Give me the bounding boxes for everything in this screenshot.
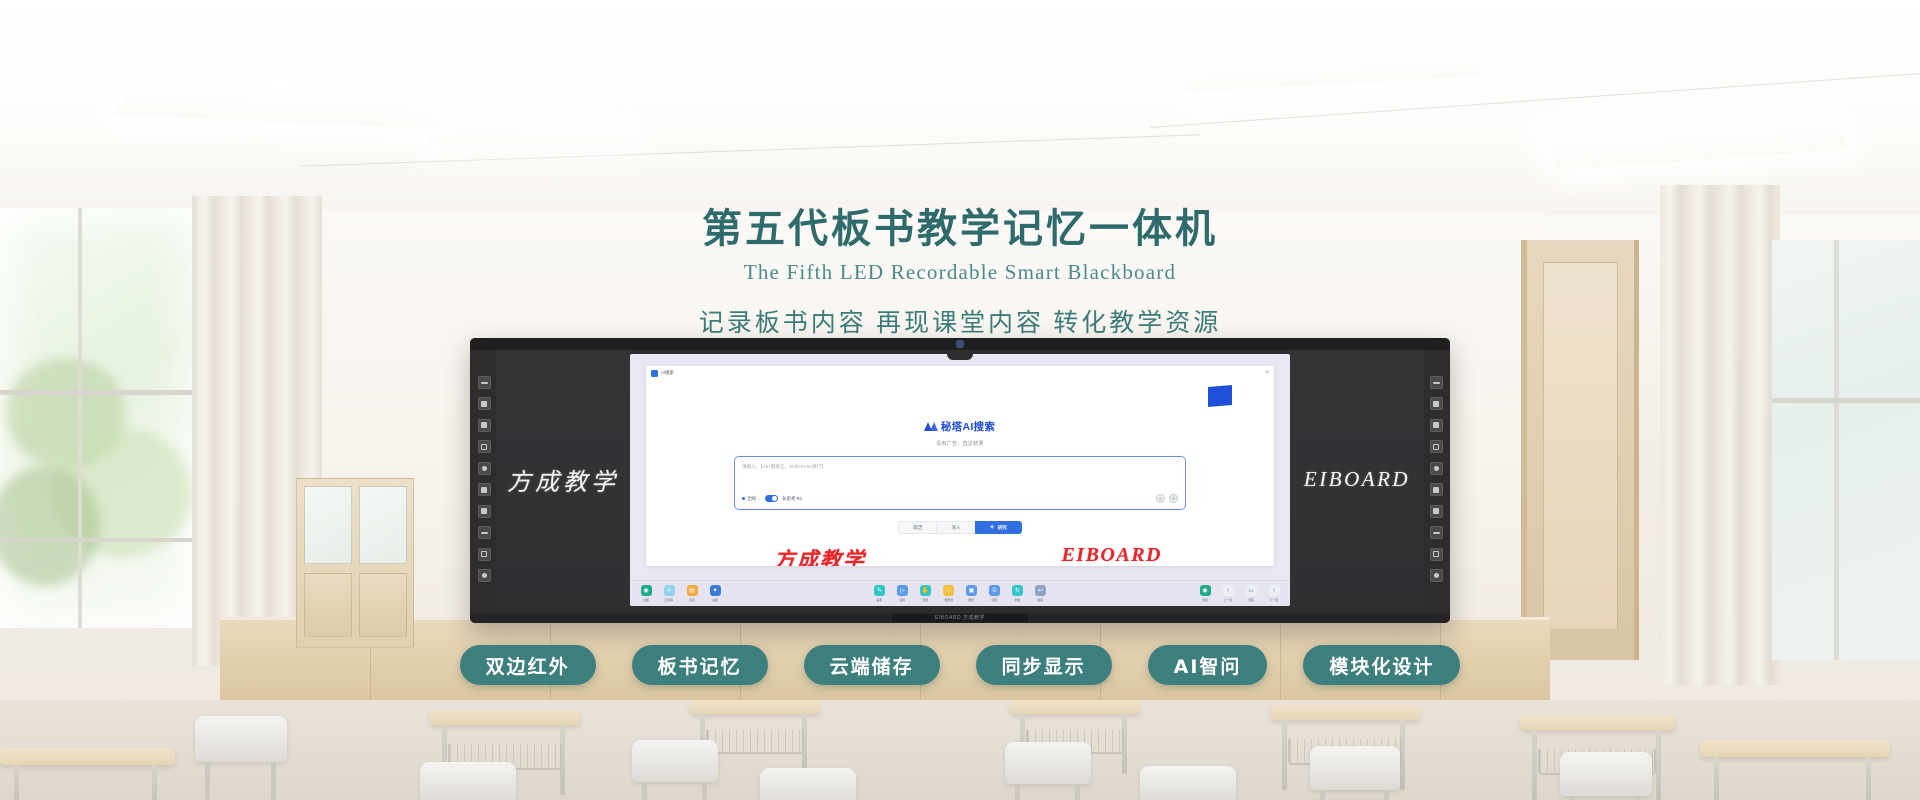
red-ink-english: EIBOARD: [1061, 544, 1162, 566]
tool-pen[interactable]: ✎ 画笔: [872, 585, 888, 602]
scope-selector[interactable]: 全网 ⌄: [742, 496, 761, 502]
volume-icon[interactable]: [478, 483, 491, 496]
page-next-button[interactable]: › 下一页: [1266, 585, 1282, 602]
blackboard-top-bar: [470, 338, 1450, 350]
app-favicon-icon: [651, 370, 658, 377]
mode-button-research[interactable]: ✧ 研究: [975, 521, 1022, 534]
feature-pill-modular-design[interactable]: 模块化设计: [1303, 645, 1460, 685]
metaso-branding: 秘塔AI搜索 没有广告，直达结果: [646, 418, 1274, 447]
tool-shape[interactable]: ▣ 图形: [964, 585, 980, 602]
chevron-right-icon: ›: [1269, 585, 1280, 596]
tool-label: 漫游: [923, 597, 929, 602]
camera-notch-icon: [947, 354, 973, 360]
tool-label: 撤销: [1038, 597, 1044, 602]
feature-pill-ai-ask[interactable]: AI智问: [1148, 645, 1268, 685]
feature-pill-dual-infrared[interactable]: 双边红外: [460, 645, 596, 685]
pause-icon[interactable]: [1430, 526, 1443, 539]
blue-square-annotation: [1208, 385, 1232, 407]
chalk-text-left: 方成教学: [507, 462, 619, 497]
power-icon[interactable]: [1430, 462, 1443, 475]
redo-icon: ↻: [1012, 585, 1023, 596]
deep-think-label: 长思考 R1: [782, 496, 802, 502]
taskbar-item-desktop[interactable]: ✦ 桌面: [707, 585, 723, 602]
taskbar-right-group[interactable]: ◉ 新建 ‹ 上一页 1/1 页码 › 下一页: [1197, 585, 1282, 602]
chevron-down-icon: ⌄: [758, 496, 761, 501]
feature-pill-board-memory[interactable]: 板书记忆: [632, 645, 768, 685]
deep-think-toggle[interactable]: [765, 495, 778, 502]
cabinet-glass-door: [359, 486, 407, 564]
mode-button-deep[interactable]: 深入: [936, 521, 974, 534]
camera-icon[interactable]: ◎: [1156, 494, 1165, 503]
metaso-logo-text: 秘塔AI搜索: [941, 419, 995, 434]
hand-icon: ✋: [920, 585, 931, 596]
center-touchscreen[interactable]: AI搜索 × 秘塔AI搜索 没有广告，直达结果 请输入，【Alt+键发正，S: [630, 354, 1290, 606]
page-number: 1/1: [1246, 585, 1257, 596]
search-input[interactable]: 请输入，【Alt+键发正，Shift+Enter换行】 全网 ⌄ 长思考 R1: [734, 456, 1186, 510]
screen-taskbar[interactable]: ◉ 白板 ⚛ 应用库 ▤ 科目 ✦ 桌面: [630, 580, 1290, 606]
metaso-mountain-icon: [925, 422, 938, 431]
close-icon[interactable]: ×: [1265, 370, 1269, 376]
mode-button-simple[interactable]: 简洁: [898, 521, 936, 534]
subtitle-english: The Fifth LED Recordable Smart Blackboar…: [0, 260, 1920, 285]
taskbar-item-whiteboard[interactable]: ◉ 白板: [638, 585, 654, 602]
blackboard-bottom-bar: EIBOARD 方成教学: [470, 613, 1450, 623]
refresh-icon[interactable]: [478, 569, 491, 582]
shape-icon: ▣: [966, 585, 977, 596]
pen-alt-icon[interactable]: [1430, 419, 1443, 432]
control-rail-left[interactable]: [474, 372, 494, 586]
metaso-tagline: 没有广告，直达结果: [646, 440, 1274, 447]
search-placeholder: 请输入，【Alt+键发正，Shift+Enter换行】: [742, 464, 826, 470]
settings-icon[interactable]: [1430, 548, 1443, 561]
cabinet-glass-door: [304, 486, 352, 564]
feature-pill-row: 双边红外 板书记忆 云端储存 同步显示 AI智问 模块化设计: [0, 645, 1920, 685]
power-icon[interactable]: [478, 462, 491, 475]
tool-label: 重做: [1015, 597, 1021, 602]
page-title: 第五代板书教学记忆一体机: [0, 196, 1920, 254]
taskbar-item-subject[interactable]: ▤ 科目: [684, 585, 700, 602]
whiteboard-icon: ◉: [641, 585, 652, 596]
headline-block: 第五代板书教学记忆一体机 The Fifth LED Recordable Sm…: [0, 196, 1920, 339]
chalk-wing-left: 方成教学: [496, 350, 630, 608]
tool-redo[interactable]: ↻ 重做: [1010, 585, 1026, 602]
scope-dot-icon: [742, 497, 745, 500]
refresh-icon[interactable]: [1430, 569, 1443, 582]
tool-select[interactable]: ▷ 选择: [895, 585, 911, 602]
new-page-icon: ◉: [1200, 585, 1211, 596]
mode-button-research-label: 研究: [998, 525, 1007, 531]
banner-stage: 第五代板书教学记忆一体机 The Fifth LED Recordable Sm…: [0, 0, 1920, 800]
tool-pan[interactable]: ✋ 漫游: [918, 585, 934, 602]
app-titlebar: AI搜索 ×: [646, 366, 1274, 380]
app-library-icon: ⚛: [664, 585, 675, 596]
sparkle-icon: ✧: [990, 524, 995, 531]
taskbar-label: 科目: [689, 597, 695, 602]
cabinet-door: [304, 573, 352, 637]
plus-icon[interactable]: ＋: [1169, 494, 1178, 503]
page-indicator: 1/1 页码: [1243, 585, 1259, 602]
settings-icon[interactable]: [478, 548, 491, 561]
pen-icon[interactable]: [1430, 397, 1443, 410]
volume-icon[interactable]: [1430, 483, 1443, 496]
taskbar-center-group[interactable]: ✎ 画笔 ▷ 选择 ✋ 漫游 ◇ 橡皮擦: [872, 585, 1049, 602]
search-footer: 全网 ⌄ 长思考 R1 ◎ ＋: [742, 493, 1178, 504]
cursor-icon: ▷: [897, 585, 908, 596]
mode-button-row[interactable]: 简洁 深入 ✧ 研究: [646, 521, 1274, 534]
undo-icon: ↩: [1035, 585, 1046, 596]
page-new-button[interactable]: ◉ 新建: [1197, 585, 1213, 602]
page-label: 上一页: [1224, 597, 1233, 602]
page-prev-button[interactable]: ‹ 上一页: [1220, 585, 1236, 602]
stop-icon[interactable]: [1430, 505, 1443, 518]
microphone-icon: [956, 340, 964, 348]
metaso-logo: 秘塔AI搜索: [925, 419, 995, 434]
subtitle-chinese: 记录板书内容 再现课堂内容 转化教学资源: [0, 303, 1920, 339]
taskbar-label: 白板: [643, 597, 649, 602]
cabinet-door: [359, 573, 407, 637]
scope-label: 全网: [747, 496, 756, 502]
chalk-text-right: EIBOARD: [1304, 467, 1410, 492]
page-label: 新建: [1202, 597, 1208, 602]
tool-label: 选择: [900, 597, 906, 602]
annotate-icon: ①: [989, 585, 1000, 596]
taskbar-left-group[interactable]: ◉ 白板 ⚛ 应用库 ▤ 科目 ✦ 桌面: [638, 585, 723, 602]
chevron-left-icon: ‹: [1223, 585, 1234, 596]
screen-icon[interactable]: [478, 376, 491, 389]
stop-icon[interactable]: [478, 505, 491, 518]
tool-label: 注释: [992, 597, 998, 602]
tool-undo[interactable]: ↩ 撤销: [1033, 585, 1049, 602]
taskbar-label: 桌面: [712, 597, 718, 602]
feature-pill-cloud-storage[interactable]: 云端储存: [804, 645, 940, 685]
tool-label: 橡皮擦: [944, 597, 953, 602]
page-label: 下一页: [1270, 597, 1279, 602]
pause-icon[interactable]: [478, 526, 491, 539]
page-icon[interactable]: [478, 440, 491, 453]
page-label: 页码: [1248, 597, 1254, 602]
tool-annotate[interactable]: ① 注释: [987, 585, 1003, 602]
subject-icon: ▤: [687, 585, 698, 596]
smart-blackboard[interactable]: 方成教学 EIBOARD AI搜索 ×: [470, 338, 1450, 623]
tool-eraser[interactable]: ◇ 橡皮擦: [941, 585, 957, 602]
app-window-title: AI搜索: [661, 370, 674, 376]
blackboard-frame: 方成教学 EIBOARD AI搜索 ×: [470, 338, 1450, 623]
eraser-icon: ◇: [943, 585, 954, 596]
cabinet: [296, 478, 414, 648]
pen-icon: ✎: [874, 585, 885, 596]
brand-plate: EIBOARD 方成教学: [892, 614, 1028, 622]
screen-icon[interactable]: [1430, 376, 1443, 389]
tool-label: 画笔: [877, 597, 883, 602]
control-rail-right[interactable]: [1426, 372, 1446, 586]
red-ink-chinese: 方成教学: [774, 544, 866, 566]
chalk-wing-right: EIBOARD: [1290, 350, 1424, 608]
pen-icon[interactable]: [478, 397, 491, 410]
page-icon[interactable]: [1430, 440, 1443, 453]
desktop-icon: ✦: [710, 585, 721, 596]
taskbar-item-applibrary[interactable]: ⚛ 应用库: [661, 585, 677, 602]
app-window[interactable]: AI搜索 × 秘塔AI搜索 没有广告，直达结果 请输入，【Alt+键发正，S: [646, 366, 1274, 566]
tool-label: 图形: [969, 597, 975, 602]
taskbar-label: 应用库: [665, 597, 674, 602]
feature-pill-sync-display[interactable]: 同步显示: [976, 645, 1112, 685]
pen-alt-icon[interactable]: [478, 419, 491, 432]
